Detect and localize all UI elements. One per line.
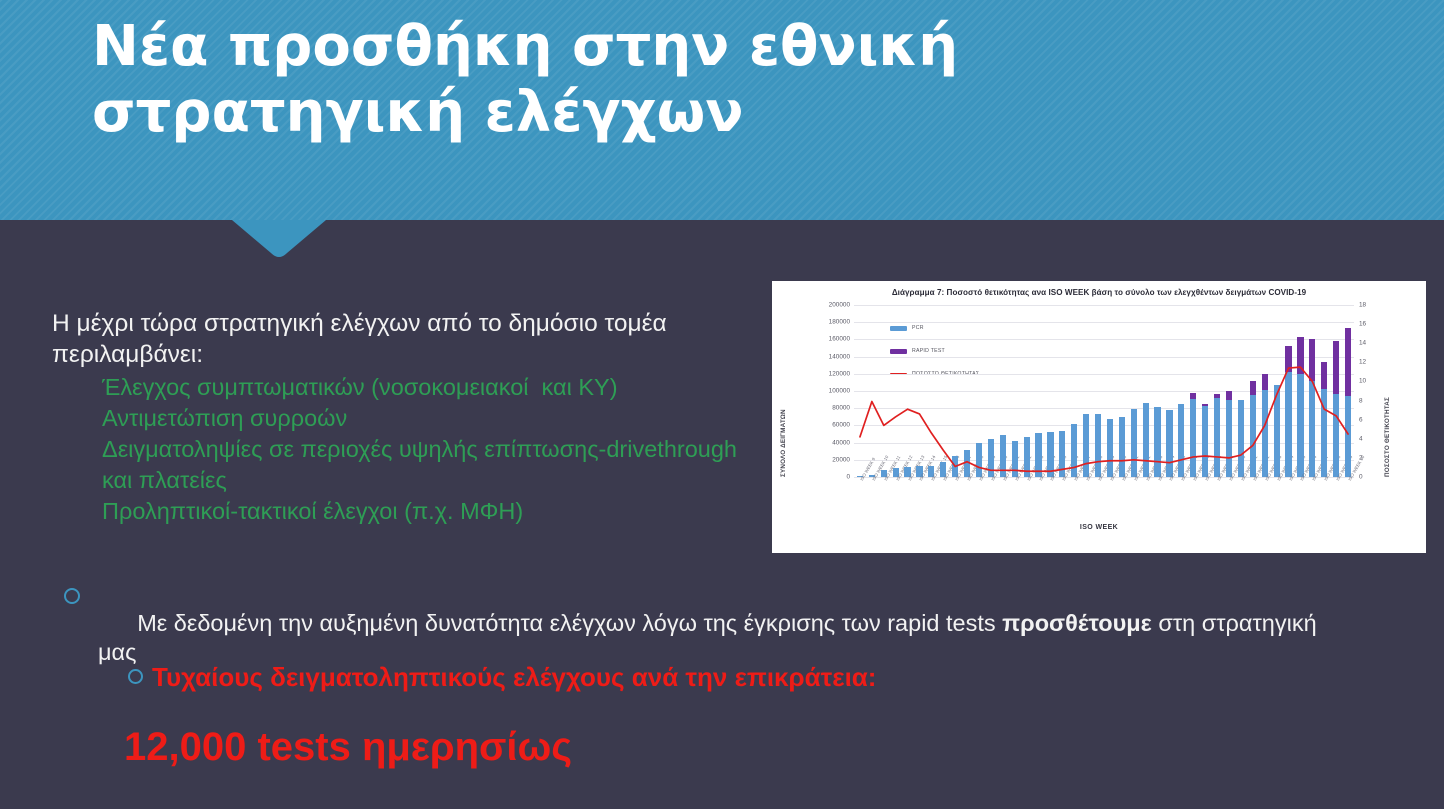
chart-y-tick-right: 12 [1359, 359, 1366, 366]
list-item: Προληπτικοί-τακτικοί έλεγχοι (π.χ. ΜΦΗ) [102, 496, 757, 527]
chart-y-tick-left: 200000 [829, 302, 850, 309]
list-item: Δειγματοληψίες σε περιοχές υψηλής επίπτω… [102, 434, 757, 496]
chart-y-tick-right: 4 [1359, 435, 1363, 442]
chart-y-axis-left-label: ΣΥΝΟΛΟ ΔΕΙΓΜΑΤΩΝ [780, 305, 787, 477]
chart-canvas: Διάγραμμα 7: Ποσοστό θετικότητας ανα ISO… [772, 281, 1426, 553]
header-banner: Νέα προσθήκη στην εθνική στρατηγική ελέγ… [0, 0, 1444, 220]
chart-y-tick-left: 20000 [832, 456, 850, 463]
strategy-list: Έλεγχος συμπτωματικών (νοσοκομειακοί και… [52, 372, 757, 527]
chart-figure: Διάγραμμα 7: Ποσοστό θετικότητας ανα ISO… [772, 281, 1426, 553]
chart-y-tick-left: 120000 [829, 370, 850, 377]
chart-y-tick-left: 80000 [832, 405, 850, 412]
chart-y-tick-left: 0 [846, 474, 850, 481]
list-item: Έλεγχος συμπτωματικών (νοσοκομειακοί και… [102, 372, 757, 403]
ring-bullet-icon [64, 588, 80, 604]
chart-y-tick-right: 6 [1359, 416, 1363, 423]
chart-y-tick-left: 160000 [829, 336, 850, 343]
chart-y-axis-right-label: ΠΟΣΟΣΤΟ ΘΕΤΙΚΟΤΗΤΑΣ [1384, 305, 1391, 477]
bullet-primary-text-bold: προσθέτουμε [1002, 610, 1152, 636]
chart-y-tick-right: 8 [1359, 397, 1363, 404]
chart-title: Διάγραμμα 7: Ποσοστό θετικότητας ανα ISO… [772, 288, 1426, 297]
ring-bullet-icon [128, 669, 143, 684]
chart-y-tick-right: 14 [1359, 340, 1366, 347]
intro-block: Η μέχρι τώρα στρατηγική ελέγχων από το δ… [52, 308, 757, 527]
chart-y-tick-left: 100000 [829, 388, 850, 395]
chart-y-tick-right: 16 [1359, 321, 1366, 328]
chart-y-tick-left: 140000 [829, 353, 850, 360]
highlight-number: 12,000 tests ημερησίως [124, 722, 572, 772]
chart-y-tick-right: 18 [1359, 302, 1366, 309]
bullet-secondary-text: Τυχαίους δειγματοληπτικούς ελέγχους ανά … [152, 661, 876, 693]
chart-y-tick-right: 0 [1359, 474, 1363, 481]
intro-lead-text: Η μέχρι τώρα στρατηγική ελέγχων από το δ… [52, 308, 757, 370]
chart-plot-area: 0200004000060000800001000001200001400001… [854, 305, 1354, 477]
chart-y-tick-right: 10 [1359, 378, 1366, 385]
chart-positivity-line [854, 305, 1354, 477]
slide-body: Η μέχρι τώρα στρατηγική ελέγχων από το δ… [0, 220, 1444, 809]
chart-y-tick-left: 60000 [832, 422, 850, 429]
page-title: Νέα προσθήκη στην εθνική στρατηγική ελέγ… [92, 14, 1322, 146]
chart-y-tick-left: 40000 [832, 439, 850, 446]
chart-y-tick-left: 180000 [829, 319, 850, 326]
bullet-secondary: Τυχαίους δειγματοληπτικούς ελέγχους ανά … [128, 661, 876, 693]
chart-x-axis-label: ISO WEEK [772, 524, 1426, 531]
list-item: Αντιμετώπιση συρροών [102, 403, 757, 434]
bullet-primary-text-part1: Με δεδομένη την αυξημένη δυνατότητα ελέγ… [137, 610, 1002, 636]
